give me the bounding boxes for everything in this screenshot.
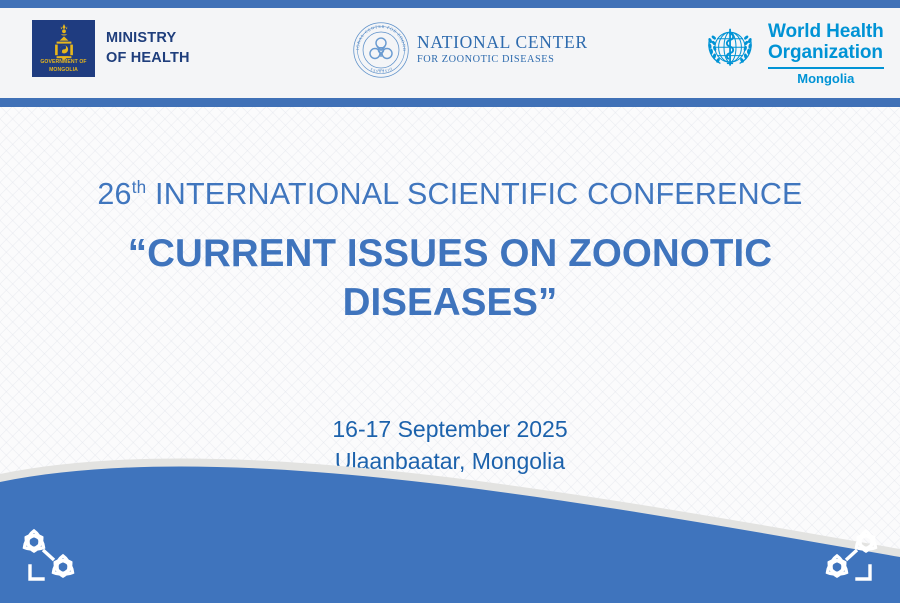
emblem-caption-line2: MONGOLIA bbox=[32, 68, 95, 73]
emblem-caption-line1: GOVERNMENT OF bbox=[32, 60, 95, 65]
nczd-name-line2: FOR ZOONOTIC DISEASES bbox=[417, 54, 588, 66]
ministry-name-line2: OF HEALTH bbox=[106, 49, 190, 68]
top-accent-bar bbox=[0, 0, 900, 8]
who-underline-rule bbox=[768, 67, 884, 69]
nczd-name-line1: NATIONAL CENTER bbox=[417, 33, 588, 52]
mongolian-knot-ornament-right bbox=[808, 523, 886, 589]
page-title: “CURRENT ISSUES ON ZOONOTIC DISEASES” bbox=[95, 229, 805, 328]
header-divider-bar bbox=[0, 98, 900, 107]
who-name-line2: Organization bbox=[768, 42, 884, 63]
national-center-zoonotic-diseases-logo: NATIONAL CENTER FOR ZOONOTIC DISEASES 19… bbox=[352, 21, 588, 79]
ministry-name-line1: MINISTRY bbox=[106, 29, 190, 48]
conference-ordinal-line: 26th INTERNATIONAL SCIENTIFIC CONFERENCE bbox=[0, 177, 900, 212]
who-globe-asclepius-icon bbox=[700, 19, 760, 79]
conference-ordinal: 26 bbox=[97, 177, 131, 211]
who-country-label: Mongolia bbox=[768, 72, 884, 86]
event-location: Ulaanbaatar, Mongolia bbox=[0, 446, 900, 478]
who-mongolia-logo: World Health Organization Mongolia bbox=[700, 19, 884, 86]
conference-title-slide: GOVERNMENT OF MONGOLIA MINISTRY OF HEALT… bbox=[0, 0, 900, 603]
soyombo-icon bbox=[49, 23, 79, 61]
conference-line-text: INTERNATIONAL SCIENTIFIC CONFERENCE bbox=[146, 177, 802, 211]
biohazard-trefoil-seal-icon: NATIONAL CENTER FOR ZOONOTIC DISEASES 19… bbox=[352, 21, 410, 79]
svg-text:1951: 1951 bbox=[378, 68, 385, 72]
conference-ordinal-suffix: th bbox=[132, 178, 147, 197]
ministry-of-health-logo: GOVERNMENT OF MONGOLIA MINISTRY OF HEALT… bbox=[32, 20, 190, 77]
ministry-name: MINISTRY OF HEALTH bbox=[106, 29, 190, 68]
who-name: World Health Organization Mongolia bbox=[768, 19, 884, 86]
mongolian-knot-ornament-left bbox=[14, 523, 92, 589]
who-name-line1: World Health bbox=[768, 21, 884, 42]
nczd-name: NATIONAL CENTER FOR ZOONOTIC DISEASES bbox=[417, 33, 588, 67]
mongolia-government-emblem: GOVERNMENT OF MONGOLIA bbox=[32, 20, 95, 77]
event-details: 16-17 September 2025 Ulaanbaatar, Mongol… bbox=[0, 414, 900, 477]
event-dates: 16-17 September 2025 bbox=[0, 414, 900, 446]
